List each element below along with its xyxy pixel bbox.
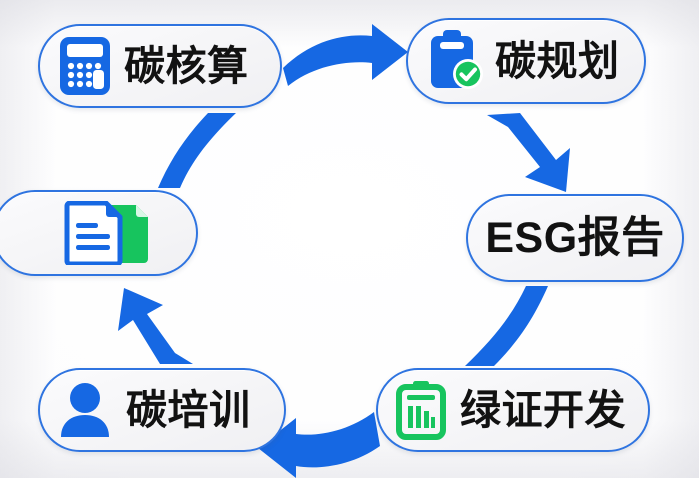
node-carbon-accounting[interactable]: 碳核算 <box>38 24 282 108</box>
user-icon <box>58 381 112 439</box>
diagram-canvas: 碳核算 碳规划 ESG报告 <box>0 0 699 478</box>
connector-esg-to-greencert <box>465 286 548 366</box>
node-documents[interactable] <box>0 190 198 276</box>
connector-documents-to-accounting <box>158 113 236 188</box>
calculator-icon <box>58 35 112 97</box>
node-label: 绿证开发 <box>460 390 626 431</box>
node-carbon-planning[interactable]: 碳规划 <box>406 18 646 104</box>
node-label: 碳培训 <box>126 390 251 431</box>
documents-icon <box>62 201 154 265</box>
clipboard-chart-icon <box>394 379 448 441</box>
node-esg-report[interactable]: ESG报告 <box>466 194 684 282</box>
clipboard-check-icon <box>426 29 484 93</box>
node-label: 碳核算 <box>124 46 249 87</box>
node-green-cert[interactable]: 绿证开发 <box>376 368 650 452</box>
connector-training-to-documents <box>118 288 193 364</box>
node-label: ESG报告 <box>485 217 664 260</box>
node-label: 碳规划 <box>495 41 620 82</box>
node-carbon-training[interactable]: 碳培训 <box>38 368 286 452</box>
connector-accounting-to-planning <box>283 24 408 86</box>
connector-planning-to-esg <box>487 113 570 192</box>
